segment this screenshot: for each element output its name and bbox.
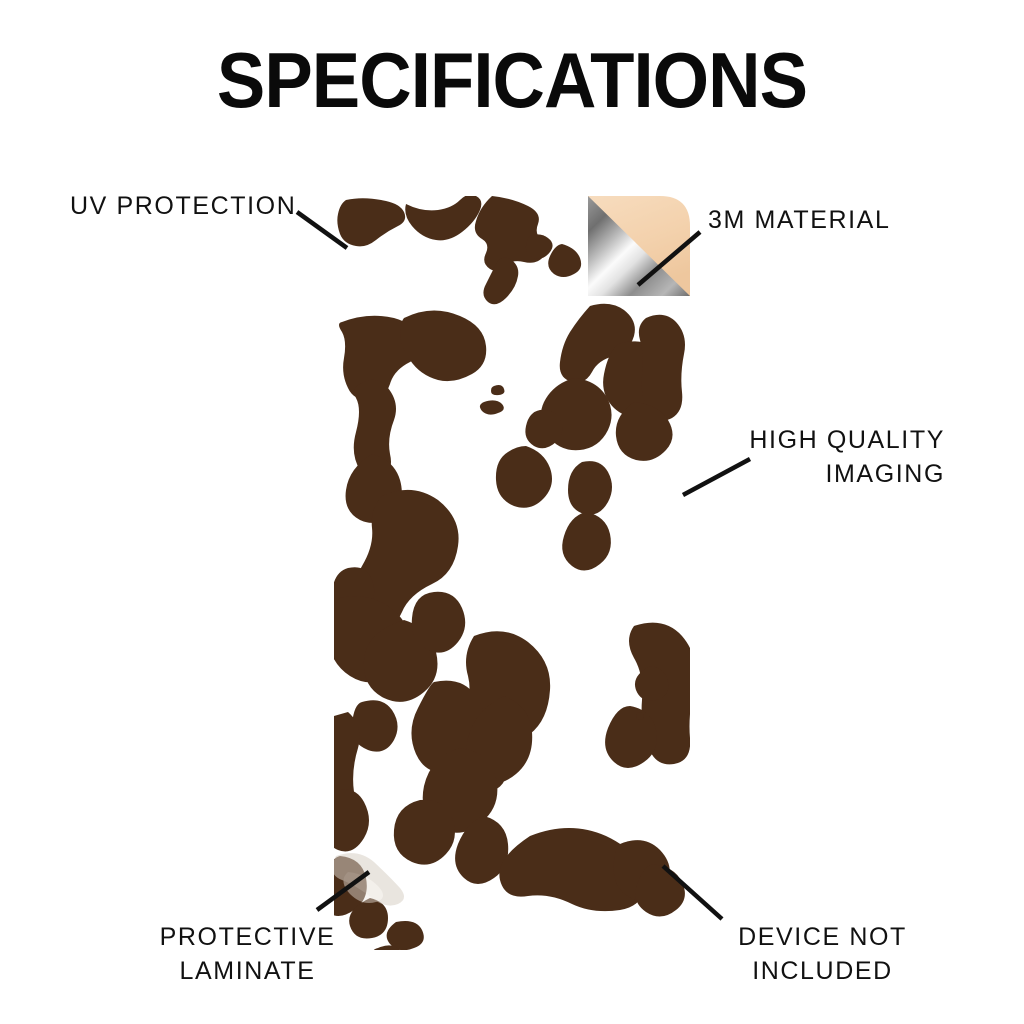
skin-artwork bbox=[334, 196, 690, 950]
callout-protective-laminate: PROTECTIVE LAMINATE bbox=[110, 920, 385, 988]
specifications-graphic: SPECIFICATIONS bbox=[0, 0, 1024, 1024]
callout-uv-protection: UV PROTECTION bbox=[70, 189, 296, 223]
callout-3m-material: 3M MATERIAL bbox=[708, 203, 890, 237]
callout-high-quality-imaging: HIGH QUALITY IMAGING bbox=[680, 423, 945, 491]
peel-corner-3m bbox=[588, 196, 690, 296]
cow-print-blobs bbox=[334, 196, 690, 950]
page-title: SPECIFICATIONS bbox=[36, 40, 988, 120]
callout-device-not-included: DEVICE NOT INCLUDED bbox=[690, 920, 955, 988]
